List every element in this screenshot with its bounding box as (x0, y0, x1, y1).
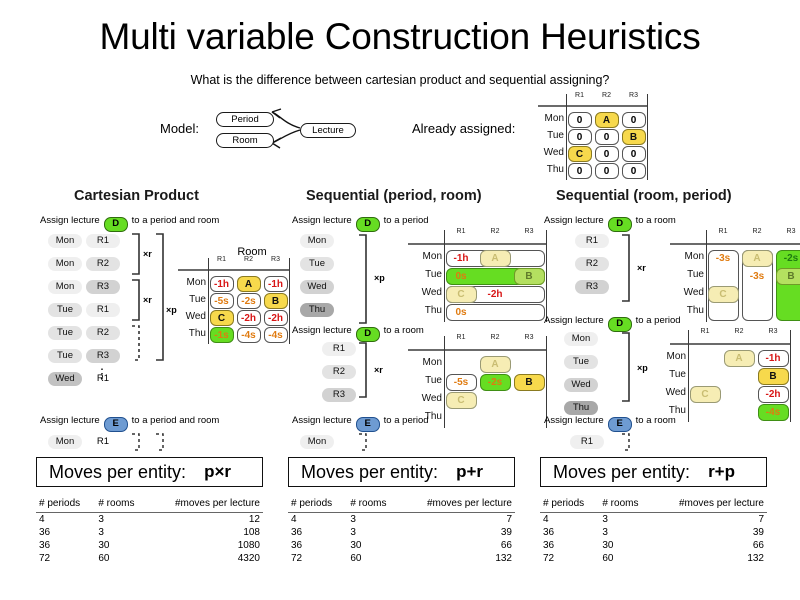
stats-column-header: # rooms (95, 497, 148, 513)
seqpr-mult-p: ×p (374, 273, 385, 283)
col-header: R2 (726, 328, 752, 335)
stats-cell: 72 (540, 552, 599, 565)
cartesian-e-period: Mon (48, 435, 82, 449)
section-title-seq-rp: Sequential (room, period) (556, 188, 732, 204)
stats-cell: 4 (288, 513, 347, 527)
timetable-cell[interactable]: -4s (237, 327, 261, 343)
candidate-item: Mon (564, 332, 598, 346)
stats-cell: 30 (599, 539, 652, 552)
model-node-room: Room (216, 133, 274, 148)
grid-rule (647, 94, 648, 180)
col-header: R1 (448, 334, 474, 341)
cartesian-mult-r1: ×r (143, 249, 152, 259)
table-row: 363108 (36, 526, 263, 539)
stats-column-header: # periods (288, 497, 347, 513)
table-row: 7260132 (288, 552, 515, 565)
section-title-cartesian: Cartesian Product (74, 188, 199, 204)
timetable-cell[interactable]: -3s (742, 268, 773, 285)
timetable-cell[interactable]: -1h (758, 350, 789, 367)
grid-header-rule (408, 243, 546, 245)
stats-cell: 3 (95, 513, 148, 527)
row-header: Tue (416, 375, 442, 386)
assign-line-seqrp-d1: Assign lectureDto a room (544, 215, 676, 232)
stats-cell: 36 (36, 539, 95, 552)
assign-line-seqrp-e: Assign lectureEto a room (544, 415, 676, 432)
stats-cell: 3 (347, 513, 400, 527)
candidate-room: R1 (86, 303, 120, 317)
moves-formula: r+p (708, 462, 735, 482)
timetable-cell[interactable]: -4s (758, 404, 789, 421)
stats-cell: 36 (36, 526, 95, 539)
stats-cell: 66 (652, 539, 767, 552)
candidate-item: Wed (564, 378, 598, 392)
timetable-cell[interactable]: C (446, 392, 477, 409)
stats-cell: 3 (599, 526, 652, 539)
assign-prefix: Assign lecture (544, 215, 604, 226)
row-header: Tue (538, 130, 564, 141)
timetable-cell[interactable]: 0 (595, 146, 619, 162)
grid-rule (546, 230, 547, 322)
model-node-lecture: Lecture (300, 123, 356, 138)
seqrp-mult-r: ×r (637, 263, 646, 273)
row-header: Mon (180, 277, 206, 288)
grid-header-rule (178, 269, 289, 271)
stats-column-header: # rooms (599, 497, 652, 513)
timetable-cell[interactable]: A (480, 356, 511, 373)
stats-cell: 3 (347, 526, 400, 539)
lecture-pill-e[interactable]: E (104, 417, 128, 432)
timetable-cell[interactable]: -5s (210, 293, 234, 309)
col-header: R3 (263, 256, 289, 263)
candidate-item: Tue (300, 257, 334, 271)
grid-rule (688, 330, 689, 422)
table-row: 437 (540, 513, 767, 527)
stats-cell: 39 (652, 526, 767, 539)
stats-cell: 3 (599, 513, 652, 527)
stats-table-cartesian: # periods# rooms#moves per lecture431236… (36, 497, 263, 565)
timetable-cell[interactable]: C (690, 386, 721, 403)
stats-column-header: # rooms (347, 497, 400, 513)
moves-box-seqpr: Moves per entity: p+r (288, 457, 515, 487)
timetable-cell[interactable]: -1h (264, 276, 288, 292)
row-header: Wed (678, 287, 704, 298)
stats-cell: 60 (599, 552, 652, 565)
moves-box-cartesian: Moves per entity: p×r (36, 457, 263, 487)
seqpr-mult-r: ×r (374, 365, 383, 375)
candidate-item: Wed (300, 280, 334, 294)
stats-column-header: # periods (540, 497, 599, 513)
cartesian-mult-p: ×p (166, 305, 177, 315)
timetable-cell[interactable]: -1h (210, 276, 234, 292)
timetable-cell[interactable]: B (514, 268, 545, 285)
row-header: Mon (660, 351, 686, 362)
candidate-item: R2 (322, 365, 356, 379)
col-header: R1 (692, 328, 718, 335)
assign-line-seqpr-d1: Assign lectureDto a period (292, 215, 429, 232)
row-header: Mon (416, 251, 442, 262)
cartesian-ellipsis: ⋮ (92, 372, 112, 376)
timetable-cell[interactable]: A (237, 276, 261, 292)
stats-table-seqrp: # periods# rooms#moves per lecture437363… (540, 497, 767, 565)
col-header: R3 (760, 328, 786, 335)
timetable-cell[interactable]: B (776, 268, 800, 285)
candidate-item: R3 (575, 280, 609, 294)
row-header: Mon (538, 113, 564, 124)
cartesian-e-room: R1 (86, 435, 120, 449)
already-assigned-label: Already assigned: (412, 121, 515, 136)
stats-cell: 36 (288, 539, 347, 552)
table-row: 363066 (288, 539, 515, 552)
stats-table-seqpr: # periods# rooms#moves per lecture437363… (288, 497, 515, 565)
candidate-item: Tue (564, 355, 598, 369)
row-header: Wed (416, 393, 442, 404)
timetable-cell[interactable]: -2h (758, 386, 789, 403)
row-header: Tue (416, 269, 442, 280)
candidate-room: R2 (86, 257, 120, 271)
candidate-item: R1 (322, 342, 356, 356)
cartesian-e-brackets (124, 432, 184, 454)
assign-prefix: Assign lecture (292, 325, 352, 336)
stats-column-header: #moves per lecture (148, 497, 263, 513)
row-header: Thu (678, 305, 704, 316)
lecture-pill-e[interactable]: E (608, 417, 632, 432)
stats-cell: 1080 (148, 539, 263, 552)
stats-cell: 30 (95, 539, 148, 552)
row-header: Wed (180, 311, 206, 322)
row-header: Mon (416, 357, 442, 368)
timetable-cell[interactable]: 0 (622, 146, 646, 162)
row-header: Tue (180, 294, 206, 305)
col-header: R3 (516, 334, 542, 341)
stats-cell: 3 (95, 526, 148, 539)
table-row: 7260132 (540, 552, 767, 565)
candidate-room: R2 (86, 326, 120, 340)
col-header: R2 (482, 228, 508, 235)
col-header: R1 (209, 256, 235, 263)
moves-label: Moves per entity: (301, 462, 438, 483)
timetable-cell[interactable]: -2s (237, 293, 261, 309)
stats-cell: 60 (95, 552, 148, 565)
assign-prefix: Assign lecture (544, 315, 604, 326)
timetable-cell[interactable]: B (622, 129, 646, 145)
timetable-cell[interactable]: 0s (446, 268, 477, 285)
candidate-period: Mon (48, 280, 82, 294)
grid-header-rule (408, 349, 546, 351)
row-header: Wed (416, 287, 442, 298)
seqpr-e-period: Mon (300, 435, 334, 449)
row-header: Wed (538, 147, 564, 158)
timetable-cell[interactable]: -1h (446, 250, 477, 267)
row-header: Tue (660, 369, 686, 380)
lecture-pill-d[interactable]: D (104, 217, 128, 232)
cartesian-mult-r2: ×r (143, 295, 152, 305)
assign-suffix: to a period and room (132, 215, 220, 226)
stats-cell: 12 (148, 513, 263, 527)
candidate-room: R1 (86, 234, 120, 248)
candidate-item: Thu (300, 303, 334, 317)
stats-column-header: #moves per lecture (652, 497, 767, 513)
candidate-period: Mon (48, 234, 82, 248)
timetable-cell[interactable]: -2s (776, 250, 800, 267)
moves-formula: p×r (204, 462, 231, 482)
row-header: Thu (538, 164, 564, 175)
stats-cell: 132 (652, 552, 767, 565)
candidate-room: R3 (86, 280, 120, 294)
col-header: R1 (710, 228, 736, 235)
col-header: R2 (482, 334, 508, 341)
stats-cell: 7 (400, 513, 515, 527)
candidate-room: R3 (86, 349, 120, 363)
timetable-cell[interactable]: A (742, 250, 773, 267)
moves-label: Moves per entity: (49, 462, 186, 483)
timetable-cell[interactable]: C (446, 286, 477, 303)
assign-suffix: to a period (636, 315, 681, 326)
timetable-cell[interactable]: 0 (568, 129, 592, 145)
stats-cell: 39 (400, 526, 515, 539)
assign-suffix: to a room (636, 215, 676, 226)
page-subtitle: What is the difference between cartesian… (0, 73, 800, 87)
table-row: 72604320 (36, 552, 263, 565)
stats-cell: 132 (400, 552, 515, 565)
assign-suffix: to a period and room (132, 415, 220, 426)
lecture-pill-d[interactable]: D (356, 217, 380, 232)
table-row: 36339 (540, 526, 767, 539)
candidate-item: Thu (564, 401, 598, 415)
grid-rule (289, 258, 290, 344)
timetable-cell[interactable]: -4s (264, 327, 288, 343)
timetable-cell[interactable]: 0 (568, 163, 592, 179)
timetable-cell[interactable]: 0 (595, 129, 619, 145)
col-header: R1 (567, 92, 593, 99)
timetable-cell[interactable]: C (708, 286, 739, 303)
candidate-period: Tue (48, 349, 82, 363)
assign-suffix: to a period (384, 215, 429, 226)
slide-root: Multi variable Construction Heuristics W… (0, 0, 800, 600)
stats-cell: 36 (540, 526, 599, 539)
timetable-cell[interactable]: 0 (622, 163, 646, 179)
assign-line-cartesian-d: Assign lectureDto a period and room (40, 215, 219, 232)
col-header: R2 (236, 256, 262, 263)
candidate-period: Tue (48, 326, 82, 340)
timetable-cell[interactable]: -2s (480, 374, 511, 391)
grid-rule (790, 330, 791, 422)
assign-line-seqrp-d2: Assign lectureDto a period (544, 315, 681, 332)
timetable-cell[interactable]: B (514, 374, 545, 391)
stats-cell: 72 (288, 552, 347, 565)
timetable-cell[interactable]: A (595, 112, 619, 128)
timetable-cell[interactable]: -5s (446, 374, 477, 391)
candidate-period: Wed (48, 372, 82, 386)
table-row: 437 (288, 513, 515, 527)
candidate-period: Tue (48, 303, 82, 317)
col-header: R2 (744, 228, 770, 235)
stats-cell: 72 (36, 552, 95, 565)
timetable-cell[interactable]: C (568, 146, 592, 162)
row-header: Thu (180, 328, 206, 339)
row-header: Tue (678, 269, 704, 280)
assign-suffix: to a room (384, 325, 424, 336)
timetable-cell[interactable]: -1s (210, 327, 234, 343)
assign-suffix: to a room (636, 415, 676, 426)
assign-prefix: Assign lecture (544, 415, 604, 426)
col-header: R3 (778, 228, 800, 235)
grid-header-rule (670, 243, 800, 245)
moves-label: Moves per entity: (553, 462, 690, 483)
model-node-period: Period (216, 112, 274, 127)
assign-prefix: Assign lecture (40, 415, 100, 426)
lecture-pill-d[interactable]: D (608, 217, 632, 232)
timetable-cell[interactable]: -2h (237, 310, 261, 326)
moves-box-seqrp: Moves per entity: r+p (540, 457, 767, 487)
stats-cell: 4 (36, 513, 95, 527)
timetable-cell[interactable]: C (210, 310, 234, 326)
assign-prefix: Assign lecture (292, 215, 352, 226)
assign-prefix: Assign lecture (292, 415, 352, 426)
table-row: 4312 (36, 513, 263, 527)
timetable-cell[interactable]: -2h (480, 286, 511, 303)
stats-cell: 36 (288, 526, 347, 539)
stats-column-header: #moves per lecture (400, 497, 515, 513)
stats-cell: 30 (347, 539, 400, 552)
table-row: 36339 (288, 526, 515, 539)
stats-cell: 36 (540, 539, 599, 552)
seqrp-e-bracket (618, 432, 648, 454)
candidate-item: R3 (322, 388, 356, 402)
col-header: R3 (621, 92, 647, 99)
stats-cell: 7 (652, 513, 767, 527)
stats-cell: 66 (400, 539, 515, 552)
lecture-pill-e[interactable]: E (356, 417, 380, 432)
seqrp-mult-p: ×p (637, 363, 648, 373)
timetable-cell[interactable]: -3s (708, 250, 739, 267)
candidate-item: Mon (300, 234, 334, 248)
candidate-item: R1 (575, 234, 609, 248)
stats-cell: 4 (540, 513, 599, 527)
col-header: R2 (594, 92, 620, 99)
assign-suffix: to a period (384, 415, 429, 426)
candidate-item: R2 (575, 257, 609, 271)
stats-cell: 60 (347, 552, 400, 565)
timetable-cell[interactable]: B (758, 368, 789, 385)
col-header: R1 (448, 228, 474, 235)
seqrp-e-room: R1 (570, 435, 604, 449)
table-row: 363066 (540, 539, 767, 552)
assign-prefix: Assign lecture (40, 215, 100, 226)
row-header: Wed (660, 387, 686, 398)
timetable-cell[interactable]: 0 (595, 163, 619, 179)
seqpr-e-bracket (355, 432, 385, 454)
stats-cell: 108 (148, 526, 263, 539)
timetable-cell[interactable]: 0 (568, 112, 592, 128)
timetable-cell[interactable]: -2h (264, 310, 288, 326)
moves-formula: p+r (456, 462, 483, 482)
page-title: Multi variable Construction Heuristics (0, 16, 800, 58)
table-row: 36301080 (36, 539, 263, 552)
assign-line-seqpr-e: Assign lectureEto a period (292, 415, 429, 432)
grid-header-rule (538, 105, 647, 107)
candidate-period: Mon (48, 257, 82, 271)
timetable-cell[interactable]: A (724, 350, 755, 367)
stats-column-header: # periods (36, 497, 95, 513)
row-header: Mon (678, 251, 704, 262)
timetable-cell[interactable]: 0s (446, 304, 477, 321)
timetable-cell[interactable]: 0 (622, 112, 646, 128)
section-title-seq-pr: Sequential (period, room) (306, 188, 482, 204)
timetable-cell[interactable]: A (480, 250, 511, 267)
row-header: Thu (416, 305, 442, 316)
stats-cell: 4320 (148, 552, 263, 565)
col-header: R3 (516, 228, 542, 235)
timetable-cell[interactable]: B (264, 293, 288, 309)
assign-line-cartesian-e: Assign lectureEto a period and room (40, 415, 219, 432)
